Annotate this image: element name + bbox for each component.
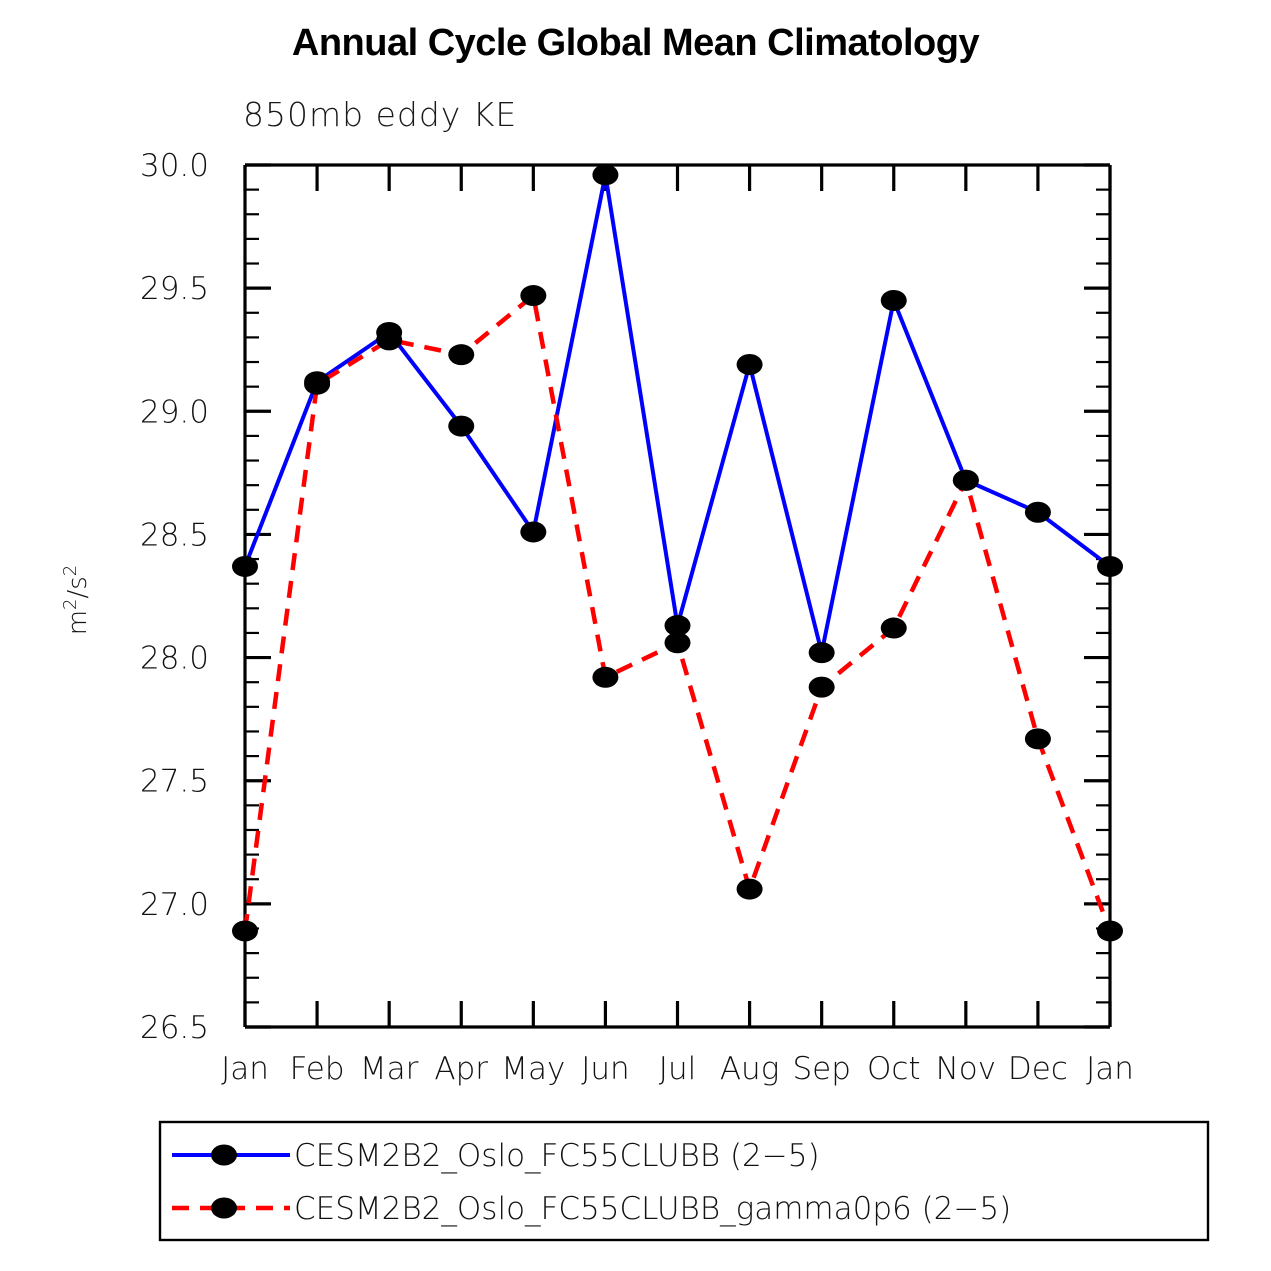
- data-point: [448, 416, 474, 437]
- data-point: [376, 329, 402, 350]
- data-point: [881, 290, 907, 311]
- data-point: [881, 618, 907, 639]
- x-axis-ticks: [245, 165, 1110, 1027]
- y-axis-title: m2/s2: [60, 565, 93, 636]
- data-point: [809, 677, 835, 698]
- x-axis-tick-labels: JanFebMarAprMayJunJulAugSepOctNovDecJan: [221, 1051, 1134, 1087]
- data-point: [1025, 502, 1051, 523]
- plot-frame: [245, 165, 1110, 1027]
- x-tick-label: Sep: [792, 1051, 850, 1087]
- data-point: [232, 920, 258, 941]
- data-point: [737, 354, 763, 375]
- data-point: [737, 879, 763, 900]
- series-layer: [232, 164, 1123, 941]
- y-tick-label: 29.0: [140, 394, 209, 430]
- x-tick-label: Jul: [659, 1051, 696, 1087]
- y-axis-title-base: m: [63, 610, 93, 635]
- y-tick-label: 27.0: [140, 887, 209, 923]
- x-tick-label: Nov: [936, 1051, 997, 1087]
- legend-marker-1: [211, 1145, 237, 1166]
- line-chart: m2/s2 30.029.529.028.528.027.527.026.5 J…: [0, 0, 1271, 1271]
- y-tick-label: 29.5: [140, 271, 209, 307]
- y-axis-title-slash: /s: [63, 576, 93, 598]
- y-tick-label: 30.0: [140, 148, 209, 184]
- x-tick-label: Apr: [434, 1051, 488, 1087]
- data-point: [592, 164, 618, 185]
- x-tick-label: Mar: [360, 1051, 419, 1087]
- legend: CESM2B2_Oslo_FC55CLUBB (2−5)CESM2B2_Oslo…: [160, 1122, 1208, 1240]
- legend-label-2: CESM2B2_Oslo_FC55CLUBB_gamma0p6 (2−5): [294, 1191, 1011, 1227]
- svg-text:m2/s2: m2/s2: [60, 565, 93, 636]
- data-point: [520, 521, 546, 542]
- x-tick-label: Jan: [1086, 1051, 1134, 1087]
- data-point: [304, 374, 330, 395]
- data-point: [592, 667, 618, 688]
- legend-label-1: CESM2B2_Oslo_FC55CLUBB (2−5): [294, 1138, 820, 1174]
- y-tick-label: 28.0: [140, 641, 209, 677]
- y-tick-label: 27.5: [140, 764, 209, 800]
- y-axis-title-sup1: 2: [60, 598, 81, 609]
- data-point: [1097, 556, 1123, 577]
- x-tick-label: Feb: [290, 1051, 345, 1087]
- y-axis-title-sup2: 2: [60, 565, 81, 576]
- data-point: [665, 632, 691, 653]
- x-tick-label: Jun: [581, 1051, 629, 1087]
- y-tick-label: 28.5: [140, 517, 209, 553]
- x-tick-label: Jan: [221, 1051, 269, 1087]
- data-point: [448, 344, 474, 365]
- legend-marker-2: [211, 1198, 237, 1219]
- data-point: [953, 470, 979, 491]
- series-line-1: [245, 175, 1110, 653]
- data-point: [520, 285, 546, 306]
- x-tick-label: Aug: [720, 1051, 779, 1087]
- chart-page: Annual Cycle Global Mean Climatology 850…: [0, 0, 1271, 1271]
- data-point: [1097, 920, 1123, 941]
- y-tick-label: 26.5: [140, 1010, 209, 1046]
- data-point: [232, 556, 258, 577]
- x-tick-label: Dec: [1008, 1051, 1068, 1087]
- y-axis-ticks: 30.029.529.028.528.027.527.026.5: [140, 148, 1110, 1046]
- x-tick-label: May: [501, 1051, 565, 1087]
- data-point: [1025, 728, 1051, 749]
- data-point: [809, 642, 835, 663]
- x-tick-label: Oct: [867, 1051, 921, 1087]
